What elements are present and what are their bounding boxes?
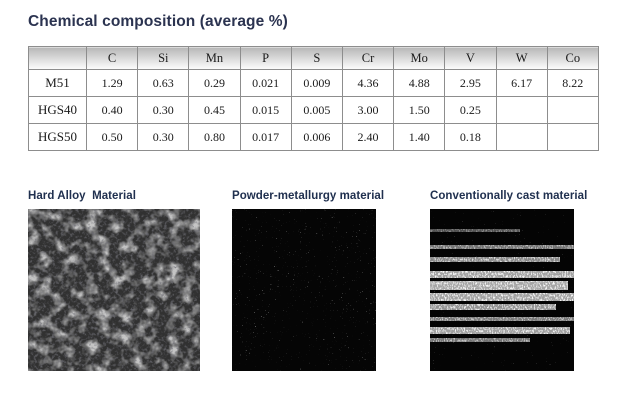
column-header-blank	[29, 47, 87, 70]
row-label-m51: M51	[29, 70, 87, 97]
column-header-s: S	[291, 47, 342, 70]
column-header-p: P	[240, 47, 291, 70]
column-header-v: V	[445, 47, 496, 70]
cell-hgs50-co	[547, 124, 598, 151]
cell-hgs50-si: 0.30	[138, 124, 189, 151]
cell-hgs40-cr: 3.00	[342, 97, 393, 124]
figure-conventionally-cast: Conventionally cast material	[430, 190, 587, 371]
row-label-hgs50: HGS50	[29, 124, 87, 151]
figure-hard-alloy: Hard Alloy Material	[28, 190, 200, 371]
cell-m51-w: 6.17	[496, 70, 547, 97]
table-header-row: C Si Mn P S Cr Mo V W Co	[29, 47, 599, 70]
column-header-mn: Mn	[189, 47, 240, 70]
cell-m51-s: 0.009	[291, 70, 342, 97]
cell-m51-mn: 0.29	[189, 70, 240, 97]
table-header: C Si Mn P S Cr Mo V W Co	[29, 47, 599, 70]
cell-hgs50-v: 0.18	[445, 124, 496, 151]
cell-hgs40-mo: 1.50	[394, 97, 445, 124]
cell-hgs50-c: 0.50	[87, 124, 138, 151]
cell-m51-si: 0.63	[138, 70, 189, 97]
row-label-hgs40: HGS40	[29, 97, 87, 124]
chemical-composition-table: C Si Mn P S Cr Mo V W Co M51 1.29 0.63 0…	[28, 46, 599, 151]
figure-caption-hard-alloy: Hard Alloy Material	[28, 190, 200, 202]
column-header-mo: Mo	[394, 47, 445, 70]
cell-hgs40-mn: 0.45	[189, 97, 240, 124]
column-header-cr: Cr	[342, 47, 393, 70]
cell-hgs50-p: 0.017	[240, 124, 291, 151]
cell-hgs50-mn: 0.80	[189, 124, 240, 151]
figure-caption-powder-metallurgy: Powder-metallurgy material	[232, 190, 384, 202]
cell-hgs50-w	[496, 124, 547, 151]
column-header-si: Si	[138, 47, 189, 70]
cell-hgs40-s: 0.005	[291, 97, 342, 124]
cell-hgs50-mo: 1.40	[394, 124, 445, 151]
cell-m51-p: 0.021	[240, 70, 291, 97]
cell-m51-v: 2.95	[445, 70, 496, 97]
table-row: HGS40 0.40 0.30 0.45 0.015 0.005 3.00 1.…	[29, 97, 599, 124]
cell-hgs40-co	[547, 97, 598, 124]
cell-m51-cr: 4.36	[342, 70, 393, 97]
column-header-w: W	[496, 47, 547, 70]
cell-hgs50-s: 0.006	[291, 124, 342, 151]
table-body: M51 1.29 0.63 0.29 0.021 0.009 4.36 4.88…	[29, 70, 599, 151]
cell-hgs40-si: 0.30	[138, 97, 189, 124]
cell-m51-c: 1.29	[87, 70, 138, 97]
micrograph-hard-alloy	[28, 209, 200, 371]
cell-hgs50-cr: 2.40	[342, 124, 393, 151]
page-title: Chemical composition (average %)	[28, 13, 288, 31]
figure-caption-conventionally-cast: Conventionally cast material	[430, 190, 587, 202]
micrograph-conventionally-cast	[430, 209, 574, 371]
column-header-co: Co	[547, 47, 598, 70]
cell-hgs40-v: 0.25	[445, 97, 496, 124]
cell-m51-mo: 4.88	[394, 70, 445, 97]
table-row: M51 1.29 0.63 0.29 0.021 0.009 4.36 4.88…	[29, 70, 599, 97]
column-header-c: C	[87, 47, 138, 70]
table-row: HGS50 0.50 0.30 0.80 0.017 0.006 2.40 1.…	[29, 124, 599, 151]
cell-hgs40-c: 0.40	[87, 97, 138, 124]
figure-powder-metallurgy: Powder-metallurgy material	[232, 190, 384, 371]
cell-hgs40-p: 0.015	[240, 97, 291, 124]
cell-hgs40-w	[496, 97, 547, 124]
micrograph-powder-metallurgy	[232, 209, 376, 371]
cell-m51-co: 8.22	[547, 70, 598, 97]
